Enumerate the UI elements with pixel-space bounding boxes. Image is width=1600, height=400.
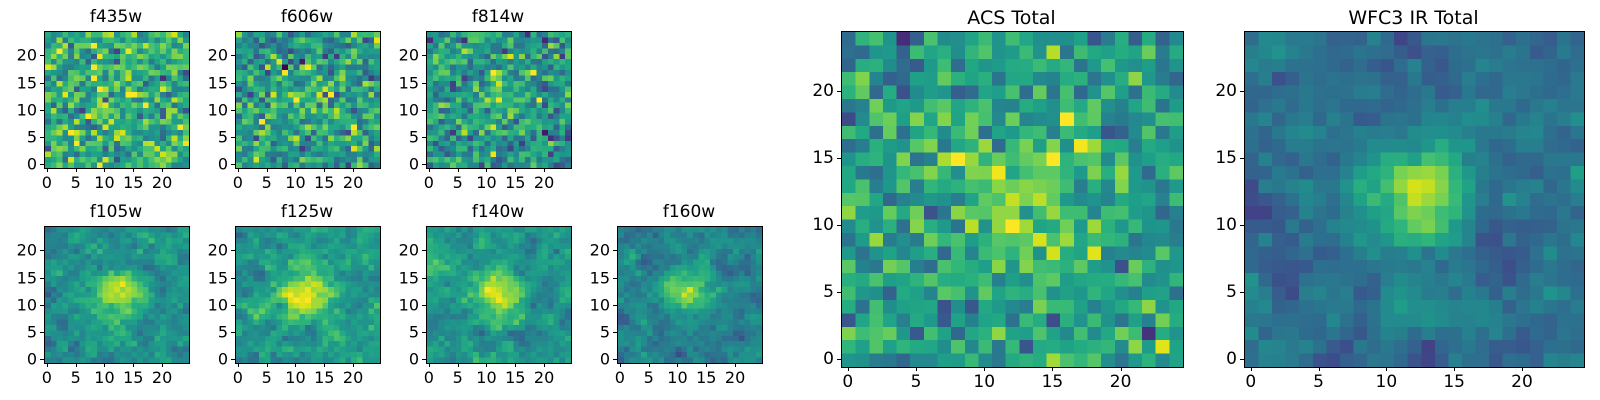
x-tick [984,367,985,371]
x-tick [620,363,621,367]
y-tick [613,332,617,333]
y-tick [422,137,426,138]
y-tick [231,332,235,333]
panel-title-f140w: f140w [426,202,570,222]
x-tick [458,363,459,367]
x-tick-label: 0 [842,372,853,392]
x-tick-label: 15 [696,368,716,387]
y-tick [837,158,841,159]
y-tick-label: 5 [577,323,610,342]
y-tick [1240,91,1244,92]
x-tick [1386,367,1387,371]
x-tick-label: 5 [453,173,463,192]
y-tick [422,305,426,306]
y-tick [422,55,426,56]
x-tick [104,363,105,367]
x-tick [238,363,239,367]
y-tick-label: 10 [577,295,610,314]
heatmap-f105w[interactable] [44,226,190,364]
y-tick-label: 20 [4,46,37,65]
y-tick [231,164,235,165]
panel-title-f125w: f125w [235,202,379,222]
y-tick [231,305,235,306]
y-tick [613,359,617,360]
y-tick [422,278,426,279]
x-tick-label: 10 [1376,372,1398,392]
heatmap-f160w[interactable] [617,226,763,364]
y-tick [231,55,235,56]
y-tick-label: 10 [801,215,834,235]
y-tick [231,83,235,84]
heatmap-f140w[interactable] [426,226,572,364]
y-tick-label: 10 [4,295,37,314]
x-tick-label: 10 [476,368,496,387]
y-tick-label: 5 [4,128,37,147]
panel-title-f814w: f814w [426,7,570,27]
y-tick [422,164,426,165]
y-tick [231,110,235,111]
y-tick-label: 5 [4,323,37,342]
y-tick-label: 5 [1204,282,1237,302]
y-tick-label: 10 [4,100,37,119]
y-tick [40,110,44,111]
y-tick-label: 20 [4,241,37,260]
x-tick [1319,367,1320,371]
heatmap-f814w[interactable] [426,31,572,169]
y-tick [613,305,617,306]
y-tick-label: 15 [386,268,419,287]
panel-title-f606w: f606w [235,7,379,27]
panel-title-f435w: f435w [44,7,188,27]
x-tick [544,168,545,172]
y-tick-label: 15 [386,73,419,92]
x-tick-label: 10 [476,173,496,192]
x-tick-label: 15 [505,173,525,192]
x-tick [162,363,163,367]
x-tick [1251,367,1252,371]
panel-title-acs-total: ACS Total [841,7,1182,29]
x-tick [295,363,296,367]
x-tick [429,363,430,367]
x-tick [1454,367,1455,371]
panel-f160w: f160w0510152005101520 [577,200,761,388]
x-tick [1121,367,1122,371]
x-tick-label: 10 [94,368,114,387]
heatmap-f435w[interactable] [44,31,190,169]
x-tick [1052,367,1053,371]
x-tick-label: 5 [453,368,463,387]
y-tick [40,305,44,306]
panel-f105w: f105w0510152005101520 [4,200,188,388]
x-tick [353,363,354,367]
x-tick [486,363,487,367]
y-tick-label: 15 [577,268,610,287]
x-tick-label: 5 [1313,372,1324,392]
y-tick-label: 0 [195,155,228,174]
x-tick-label: 20 [725,368,745,387]
x-tick [133,363,134,367]
x-tick-label: 10 [667,368,687,387]
x-tick-label: 0 [233,368,243,387]
x-tick-label: 0 [42,173,52,192]
x-tick-label: 10 [94,173,114,192]
x-tick [76,168,77,172]
y-tick [837,225,841,226]
y-tick-label: 0 [4,155,37,174]
x-tick [515,363,516,367]
y-tick-label: 10 [386,295,419,314]
x-tick [76,363,77,367]
y-tick [40,137,44,138]
heatmap-canvas-f160w [618,227,762,363]
y-tick-label: 15 [4,268,37,287]
heatmap-f125w[interactable] [235,226,381,364]
y-tick-label: 20 [386,46,419,65]
y-tick-label: 5 [195,323,228,342]
y-tick [40,164,44,165]
y-tick-label: 15 [1204,148,1237,168]
y-tick [422,332,426,333]
y-tick-label: 10 [195,100,228,119]
x-tick [1522,367,1523,371]
y-tick [1240,158,1244,159]
y-tick [837,292,841,293]
x-tick [133,168,134,172]
x-tick-label: 5 [71,368,81,387]
y-tick-label: 10 [195,295,228,314]
y-tick-label: 5 [386,323,419,342]
y-tick [40,55,44,56]
x-tick-label: 0 [1245,372,1256,392]
y-tick [40,83,44,84]
y-tick [40,250,44,251]
panel-acs-total: ACS Total0510152005101520 [801,5,1182,392]
x-tick [295,168,296,172]
x-tick [848,367,849,371]
x-tick [649,363,650,367]
x-tick-label: 5 [71,173,81,192]
heatmap-acs-total[interactable] [841,31,1184,368]
panel-f606w: f606w0510152005101520 [195,5,379,193]
x-tick-label: 15 [314,368,334,387]
x-tick-label: 10 [973,372,995,392]
x-tick-label: 20 [152,173,172,192]
x-tick-label: 20 [343,368,363,387]
x-tick [353,168,354,172]
x-tick-label: 15 [314,173,334,192]
x-tick [267,363,268,367]
x-tick [515,168,516,172]
x-tick [677,363,678,367]
panel-wfc3-ir-total: WFC3 IR Total0510152005101520 [1204,5,1583,392]
y-tick-label: 15 [801,148,834,168]
y-tick-label: 0 [577,350,610,369]
y-tick-label: 0 [386,350,419,369]
y-tick-label: 20 [801,81,834,101]
y-tick-label: 10 [386,100,419,119]
x-tick [267,168,268,172]
y-tick-label: 0 [195,350,228,369]
y-tick-label: 20 [1204,81,1237,101]
figure-canvas: f435w0510152005101520f606w05101520051015… [0,0,1600,400]
x-tick-label: 20 [343,173,363,192]
y-tick [231,278,235,279]
heatmap-f606w[interactable] [235,31,381,169]
heatmap-canvas-f125w [236,227,380,363]
heatmap-canvas-f606w [236,32,380,168]
y-tick-label: 20 [386,241,419,260]
x-tick [47,168,48,172]
panel-title-f160w: f160w [617,202,761,222]
y-tick-label: 20 [195,241,228,260]
heatmap-canvas-f435w [45,32,189,168]
y-tick-label: 10 [1204,215,1237,235]
x-tick [544,363,545,367]
heatmap-wfc3-ir-total[interactable] [1244,31,1585,368]
y-tick-label: 15 [195,73,228,92]
y-tick [613,250,617,251]
x-tick-label: 10 [285,368,305,387]
y-tick [837,359,841,360]
x-tick [162,168,163,172]
x-tick-label: 15 [1042,372,1064,392]
y-tick [231,250,235,251]
x-tick [458,168,459,172]
x-tick-label: 5 [644,368,654,387]
y-tick [40,359,44,360]
x-tick-label: 10 [285,173,305,192]
heatmap-canvas-wfc3-ir-total [1245,32,1584,367]
x-tick [735,363,736,367]
heatmap-canvas-f105w [45,227,189,363]
y-tick [613,278,617,279]
y-tick-label: 0 [4,350,37,369]
x-tick [104,168,105,172]
x-tick [324,168,325,172]
y-tick [1240,225,1244,226]
x-tick-label: 20 [1511,372,1533,392]
y-tick [422,359,426,360]
x-tick-label: 5 [262,368,272,387]
x-tick-label: 15 [505,368,525,387]
y-tick-label: 5 [801,282,834,302]
y-tick [40,278,44,279]
heatmap-canvas-f140w [427,227,571,363]
y-tick [1240,292,1244,293]
x-tick-label: 15 [123,368,143,387]
x-tick-label: 20 [534,173,554,192]
x-tick-label: 20 [1110,372,1132,392]
x-tick-label: 20 [152,368,172,387]
x-tick-label: 15 [123,173,143,192]
y-tick [422,250,426,251]
x-tick-label: 0 [42,368,52,387]
y-tick [40,332,44,333]
x-tick-label: 5 [911,372,922,392]
y-tick-label: 5 [386,128,419,147]
x-tick [238,168,239,172]
y-tick-label: 5 [195,128,228,147]
x-tick-label: 0 [615,368,625,387]
x-tick-label: 15 [1443,372,1465,392]
y-tick-label: 0 [801,349,834,369]
y-tick-label: 15 [4,73,37,92]
y-tick [422,83,426,84]
y-tick [231,359,235,360]
y-tick-label: 15 [195,268,228,287]
x-tick [916,367,917,371]
x-tick-label: 5 [262,173,272,192]
panel-title-wfc3-ir-total: WFC3 IR Total [1244,7,1583,29]
y-tick-label: 20 [195,46,228,65]
panel-f140w: f140w0510152005101520 [386,200,570,388]
panel-f435w: f435w0510152005101520 [4,5,188,193]
y-tick [422,110,426,111]
x-tick-label: 0 [233,173,243,192]
x-tick [47,363,48,367]
y-tick [837,91,841,92]
panel-title-f105w: f105w [44,202,188,222]
x-tick-label: 0 [424,173,434,192]
y-tick [1240,359,1244,360]
panel-f125w: f125w0510152005101520 [195,200,379,388]
y-tick-label: 0 [1204,349,1237,369]
y-tick-label: 20 [577,241,610,260]
y-tick [231,137,235,138]
x-tick [486,168,487,172]
x-tick-label: 20 [534,368,554,387]
x-tick [324,363,325,367]
heatmap-canvas-acs-total [842,32,1183,367]
x-tick-label: 0 [424,368,434,387]
panel-f814w: f814w0510152005101520 [386,5,570,193]
heatmap-canvas-f814w [427,32,571,168]
y-tick-label: 0 [386,155,419,174]
x-tick [429,168,430,172]
x-tick [706,363,707,367]
